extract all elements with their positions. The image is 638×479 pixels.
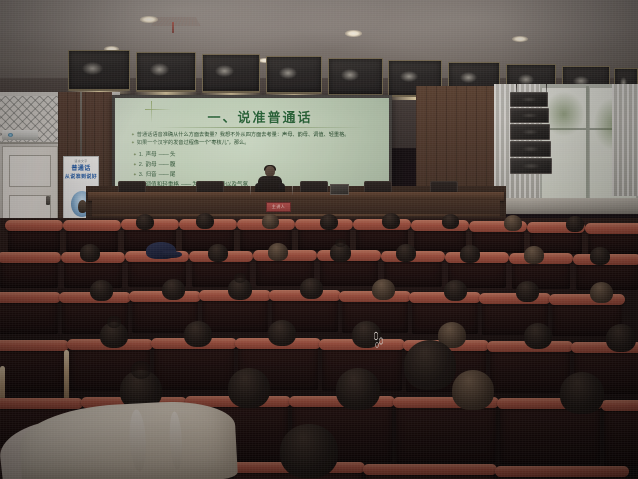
seat[interactable] — [414, 226, 466, 252]
audience-head — [300, 278, 323, 299]
slide-title-rule — [155, 127, 365, 128]
seat-headrest — [585, 223, 638, 234]
audience-head — [136, 214, 154, 230]
audience-head — [444, 280, 467, 301]
downlight-icon — [512, 36, 528, 42]
microphone-icon — [250, 186, 251, 195]
seat[interactable] — [0, 346, 66, 392]
name-placard-text: 主讲人 — [267, 203, 290, 211]
window-mullion — [586, 86, 589, 202]
slide-decoration-icon — [151, 101, 152, 123]
bullet-marker-icon: ✦ — [133, 151, 137, 159]
audience-head — [560, 372, 604, 414]
seat-headrest — [411, 220, 469, 231]
audience-head — [516, 281, 539, 302]
seat-headrest — [5, 220, 63, 231]
seat-headrest — [495, 466, 629, 477]
audience-head — [196, 213, 214, 229]
seat-headrest — [549, 294, 625, 305]
hair-clip-icon — [372, 330, 385, 349]
audience-head — [442, 214, 459, 229]
audience-head — [280, 424, 338, 478]
audience-head — [268, 320, 296, 346]
audience-head — [452, 370, 494, 410]
ceiling-panel — [68, 50, 130, 90]
seat-headrest — [0, 292, 61, 303]
banner-pole — [80, 92, 82, 156]
seat[interactable] — [0, 258, 58, 288]
list-dash: —— — [159, 171, 168, 181]
speaker-box — [510, 158, 552, 174]
list-term: 归音 — [145, 171, 156, 181]
list-value: 腹 — [170, 161, 176, 171]
list-dash: —— — [159, 151, 168, 161]
coat-fold — [128, 409, 147, 472]
speaker-box — [510, 108, 549, 123]
lecture-hall-photo: 语言文字 普通话 从说准到说好 语言文字规范化宣传 一、说准 — [0, 0, 638, 479]
audience-head — [396, 244, 416, 262]
screen-surface: 一、说准普通话 ✦ 普通话语音准确从什么方面去衡量？我想不外从四方面去考量：声母… — [115, 98, 389, 197]
audience-head — [330, 243, 351, 262]
speaker-box — [510, 141, 551, 157]
seat-armrest — [64, 350, 69, 404]
presenter-table-trim — [92, 214, 500, 216]
name-placard: 主讲人 — [266, 202, 291, 212]
audience-cap-icon — [146, 242, 176, 259]
list-term: 韵母 — [145, 161, 156, 171]
seat[interactable] — [202, 296, 268, 332]
audience-head — [90, 280, 113, 301]
seat-headrest — [601, 400, 638, 411]
slide-decoration-icon — [145, 109, 171, 110]
line-array-speakers — [510, 92, 552, 176]
seat[interactable] — [8, 226, 60, 252]
seat[interactable] — [320, 256, 378, 286]
seat[interactable] — [366, 470, 494, 479]
seat-headrest — [479, 293, 551, 304]
projection-screen: 一、说准普通话 ✦ 普通话语音准确从什么方面去衡量？我想不外从四方面去考量：声母… — [112, 95, 392, 200]
slide-bullet-text: 普通话语音准确从什么方面去衡量？我想不外从四方面去考量：声母、韵母、调值、轻重格… — [137, 131, 381, 139]
seat[interactable] — [490, 347, 570, 393]
list-number: 1. — [139, 151, 144, 161]
slide-bullet: ✦ 普通话语音准确从什么方面去衡量？我想不外从四方面去考量：声母、韵母、调值、轻… — [131, 131, 381, 139]
audience-head — [184, 321, 212, 347]
audience-head — [208, 244, 228, 262]
list-number: 3. — [139, 171, 144, 181]
laptop-icon[interactable] — [330, 184, 349, 195]
sprinkler-icon — [172, 22, 174, 33]
audience-head — [268, 243, 288, 261]
seat-headrest — [363, 464, 497, 475]
bullet-marker-icon: ✦ — [131, 131, 135, 139]
audience-head — [262, 214, 279, 229]
speaker-box — [510, 124, 550, 140]
audience-head — [228, 368, 270, 408]
seat[interactable] — [604, 406, 638, 466]
audience-head — [590, 282, 613, 303]
list-value: 头 — [170, 151, 176, 161]
ceiling-panel — [136, 52, 196, 91]
banner-title-line1: 普通话 — [64, 166, 98, 174]
slide-bullets: ✦ 普通话语音准确从什么方面去衡量？我想不外从四方面去考量：声母、韵母、调值、轻… — [125, 131, 381, 147]
seat[interactable] — [0, 298, 58, 334]
seat[interactable] — [154, 344, 234, 390]
slide-title: 一、说准普通话 — [139, 107, 381, 126]
audience-head — [524, 323, 552, 349]
seat[interactable] — [396, 403, 496, 463]
audience-head — [382, 213, 400, 229]
ceiling-panel — [266, 56, 322, 93]
audience-head — [524, 246, 544, 264]
bullet-marker-icon: ✦ — [133, 161, 137, 169]
door-panel — [9, 155, 51, 187]
microphone-icon — [292, 186, 293, 195]
speaker-box — [510, 92, 548, 107]
audience-head — [606, 324, 636, 352]
seat-headrest — [0, 252, 61, 263]
list-number: 2. — [139, 161, 144, 171]
audience-head — [372, 279, 395, 300]
seat[interactable] — [498, 472, 626, 479]
door-knob-icon[interactable] — [46, 196, 50, 205]
audience-head — [566, 216, 584, 232]
audience-head — [100, 322, 128, 348]
slide-bullet: ✦ 如果一个汉字的发音过程像一个"枣核儿"，那么。 — [131, 139, 381, 147]
list-term: 声母 — [145, 151, 156, 161]
audience-head — [404, 340, 456, 390]
window-sill — [496, 198, 638, 214]
audience-head — [228, 278, 252, 300]
ceiling-vent-icon — [151, 17, 200, 26]
bullet-marker-icon: ✦ — [133, 171, 137, 179]
banner-header: 语言文字 — [64, 159, 98, 163]
bullet-marker-icon: ✦ — [131, 139, 135, 147]
list-value: 尾 — [170, 171, 176, 181]
slide-bullet-text: 如果一个汉字的发音过程像一个"枣核儿"，那么。 — [137, 139, 381, 147]
seat-headrest — [63, 220, 121, 231]
seat-headrest — [0, 340, 69, 351]
coat-fold — [168, 411, 183, 470]
slide-list-item: ✦ 1. 声母 —— 头 — [133, 151, 381, 161]
audience-head — [320, 214, 338, 230]
projector-lens-icon — [8, 133, 13, 137]
audience-head — [80, 244, 100, 262]
window-curtain[interactable] — [612, 84, 638, 196]
seat-headrest — [0, 398, 83, 409]
downlight-icon — [140, 16, 158, 23]
audience-head — [590, 247, 610, 265]
audience-head — [460, 245, 480, 263]
audience-head — [504, 215, 522, 231]
list-dash: —— — [159, 161, 168, 171]
slide-content: 一、说准普通话 ✦ 普通话语音准确从什么方面去衡量？我想不外从四方面去考量：声母… — [115, 98, 389, 197]
downlight-icon — [345, 30, 362, 37]
audience-head — [162, 279, 185, 300]
audience-head — [336, 368, 380, 410]
ceiling-panel — [202, 54, 260, 92]
seat[interactable] — [472, 227, 524, 253]
banner-title-line2: 从说准到说好 — [64, 174, 98, 180]
ceiling-panel — [328, 58, 383, 95]
